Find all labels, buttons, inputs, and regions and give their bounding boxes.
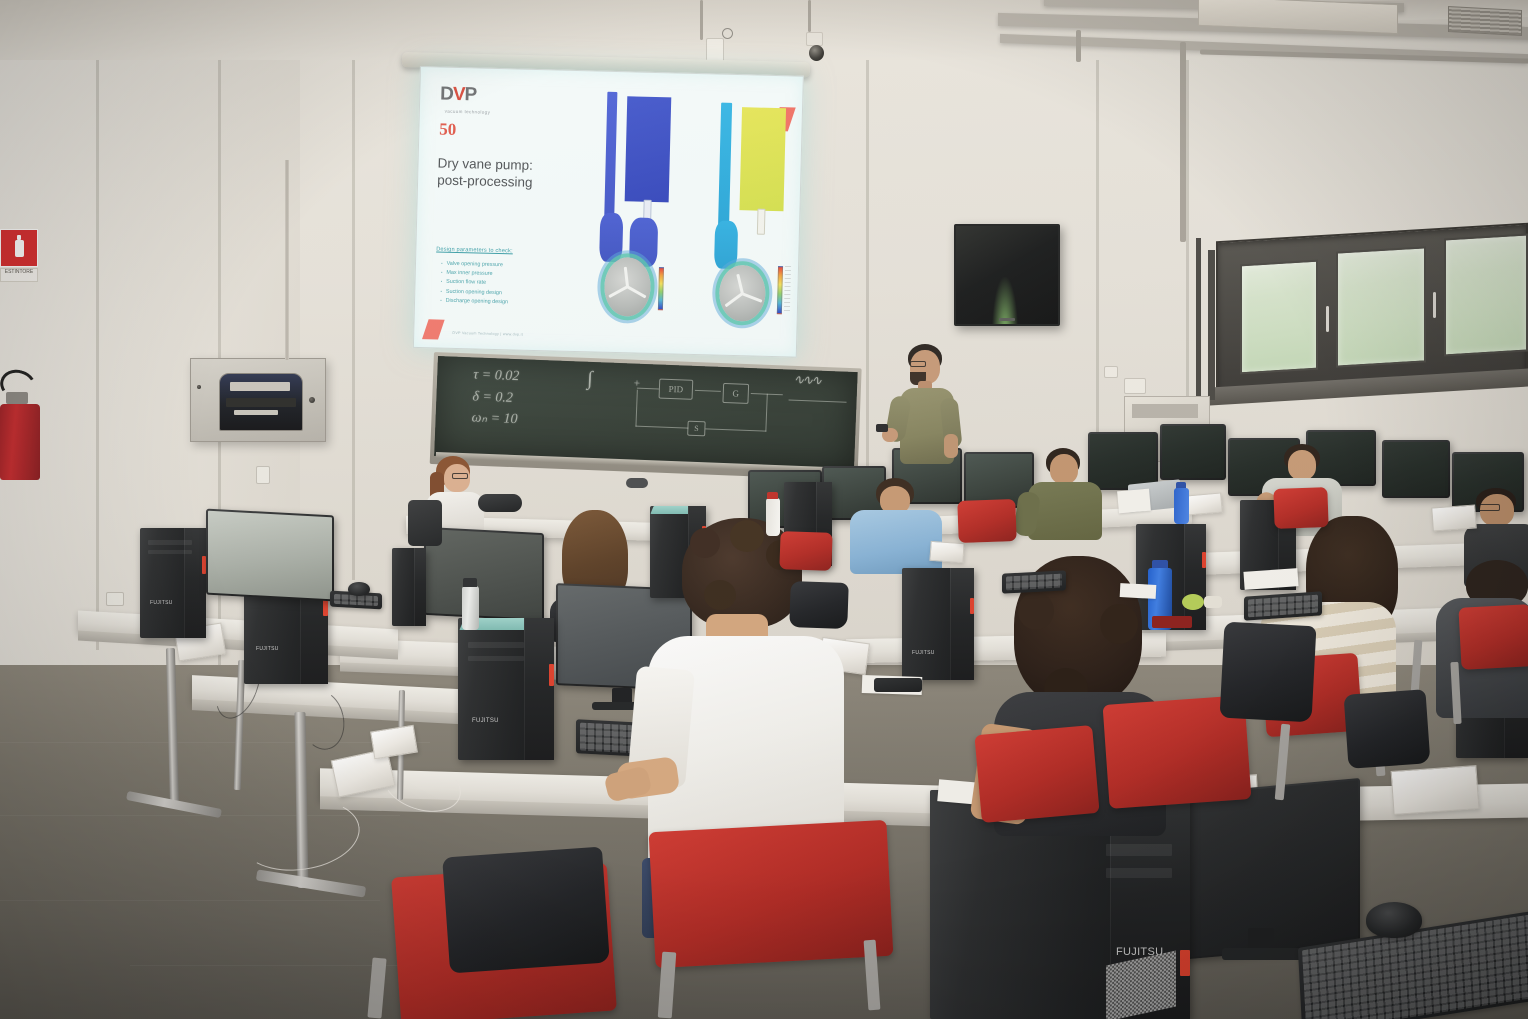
slide-title-line2: post-processing xyxy=(437,172,533,192)
ceiling-conduit xyxy=(1180,42,1186,242)
tower-drive-slot xyxy=(468,642,524,648)
monitor[interactable] xyxy=(1160,424,1226,480)
wall-seam xyxy=(352,20,355,580)
ceiling-conduit xyxy=(1076,30,1081,62)
monitor-screen xyxy=(426,529,542,619)
hair-curl xyxy=(1018,592,1054,630)
fire-extinguisher-sign xyxy=(0,229,38,267)
tower-drive-slot xyxy=(1106,868,1172,878)
security-camera xyxy=(809,45,824,61)
slide-bullet-list: Valve opening pressure Max inner pressur… xyxy=(440,259,509,307)
signal-arrow xyxy=(695,390,721,392)
tower-front-panel xyxy=(950,568,974,680)
slide-title: Dry vane pump: post-processing xyxy=(437,154,533,191)
feedback-path xyxy=(635,390,637,427)
wall-seam xyxy=(866,40,869,470)
tower-accent xyxy=(970,598,974,614)
paper-sheet xyxy=(1120,583,1157,599)
wall-hook-icon xyxy=(722,28,733,39)
wall-conduit xyxy=(285,160,289,360)
cfd-figure-inlet xyxy=(598,91,718,318)
blackboard-note: ωₙ = 10 xyxy=(471,409,518,428)
desktop-speaker xyxy=(478,494,522,512)
window-pane[interactable] xyxy=(1444,234,1528,357)
rotor-vane xyxy=(608,286,628,299)
window-pane[interactable] xyxy=(1336,246,1426,367)
tower-accent xyxy=(549,664,554,686)
rotor-vane xyxy=(627,286,647,299)
pid-block: PID xyxy=(659,379,694,400)
cfd-pressure-field xyxy=(714,220,738,269)
monitor-screen xyxy=(208,511,332,599)
computer-tower[interactable]: FUJITSU xyxy=(902,568,974,680)
floor-tile-line xyxy=(0,742,430,743)
blackboard-note: τ = 0.02 xyxy=(473,367,520,385)
water-bottle[interactable] xyxy=(462,586,479,630)
computer-tower[interactable] xyxy=(392,548,426,626)
chair[interactable] xyxy=(408,500,442,546)
tower-drive-slot xyxy=(468,656,524,661)
tower-front-panel xyxy=(524,618,554,760)
cfd-pressure-field xyxy=(718,103,732,230)
cable-management-box xyxy=(1391,765,1480,815)
dvp-tagline: vacuum technology xyxy=(445,108,491,114)
cabinet-screw-icon xyxy=(197,385,201,389)
monitor[interactable] xyxy=(206,509,334,602)
water-bottle[interactable] xyxy=(766,498,780,536)
dvp-logo: DVP xyxy=(440,84,477,104)
monitor-screen xyxy=(1384,442,1448,496)
cfd-figure-discharge xyxy=(713,103,804,324)
wall-seam xyxy=(1096,30,1099,450)
cabinet-device xyxy=(234,410,278,415)
paper-sheet xyxy=(1243,568,1298,590)
wall-sensor xyxy=(706,38,724,62)
tower-drive-slot xyxy=(1106,844,1172,856)
monitor[interactable] xyxy=(1382,440,1450,498)
feedback-path xyxy=(635,426,688,429)
mouse[interactable] xyxy=(348,582,370,596)
chair[interactable] xyxy=(1458,604,1528,670)
head xyxy=(1288,450,1316,480)
cfd-pressure-field xyxy=(739,108,785,212)
chair[interactable] xyxy=(779,531,832,571)
glasses xyxy=(1478,504,1500,511)
anniversary-mark: 50 xyxy=(439,121,456,138)
computer-tower[interactable]: FUJITSU xyxy=(458,618,554,760)
cabinet-device xyxy=(226,398,296,407)
logo-p: P xyxy=(464,84,476,105)
rotor-vane xyxy=(736,274,743,294)
bottle-cap xyxy=(463,578,477,587)
ceiling-vent-grille xyxy=(1448,6,1522,36)
chair[interactable] xyxy=(1273,487,1328,529)
hair-curl xyxy=(1100,604,1138,644)
apple xyxy=(1182,594,1204,610)
keyboard[interactable] xyxy=(1002,570,1066,593)
integral-symbol: ∫ xyxy=(587,368,593,391)
backpack xyxy=(789,581,849,629)
wall-outlet[interactable] xyxy=(256,466,270,484)
monitor-brand-badge xyxy=(999,318,1015,321)
glasses xyxy=(452,473,468,479)
person-student-olive-back xyxy=(1022,448,1122,538)
bottle-cap xyxy=(767,492,778,499)
cfd-colorbar xyxy=(777,266,783,314)
mouse[interactable] xyxy=(1366,902,1422,938)
slide-content: DVP vacuum technology 50 Dry vane pump: … xyxy=(414,67,803,357)
cable-management-box xyxy=(1185,492,1223,515)
smartphone[interactable] xyxy=(874,678,922,692)
tower-brand-logo: FUJITSU xyxy=(912,650,935,656)
wall-outlet[interactable] xyxy=(106,592,124,606)
wall-device xyxy=(1104,366,1118,378)
plant-block: G xyxy=(722,383,749,404)
cabinet-drawer xyxy=(1132,404,1198,418)
cfd-colorbar-ticks xyxy=(784,266,791,314)
hair-curl xyxy=(730,520,764,552)
security-camera-mount xyxy=(806,32,823,46)
keyboard-keys xyxy=(1248,595,1318,618)
window-handle[interactable] xyxy=(1433,292,1436,318)
tower-front-panel xyxy=(414,548,426,626)
tower-accent xyxy=(1202,552,1206,568)
slide-accent-shape xyxy=(422,319,445,339)
cfd-rotor-diagram xyxy=(718,264,765,322)
window-pane[interactable] xyxy=(1240,260,1318,375)
fire-extinguisher-sign-label: ESTINTORE xyxy=(0,268,38,282)
blackboard-note: δ = 0.2 xyxy=(472,389,513,407)
head xyxy=(1050,454,1078,484)
slide-bullets-heading: Design parameters to check: xyxy=(436,247,513,255)
tower-brand-logo: FUJITSU xyxy=(472,718,499,724)
tower-front-panel xyxy=(1184,524,1206,630)
hair-curl xyxy=(704,580,736,610)
rotor-vane xyxy=(741,292,762,302)
chair[interactable] xyxy=(649,820,894,968)
cfd-rotor-diagram xyxy=(604,257,651,316)
rotor-vane xyxy=(624,267,629,287)
tower-drive-slot xyxy=(148,540,192,545)
tower-drive-slot xyxy=(148,550,192,554)
webcam xyxy=(626,478,648,488)
feedback-path xyxy=(705,428,766,431)
logo-d: D xyxy=(440,83,453,104)
extinguisher-icon xyxy=(15,240,24,257)
rotor-vane xyxy=(724,292,743,307)
backpack xyxy=(442,847,610,974)
step-response-sketch: ∿∿∿ xyxy=(793,372,820,389)
cabinet-lock-icon[interactable] xyxy=(309,397,315,403)
backpack xyxy=(1220,622,1317,723)
tower-brand-logo: FUJITSU xyxy=(150,600,173,606)
feedback-path xyxy=(765,394,767,432)
keyboard-keys xyxy=(1006,574,1062,591)
cabinet-device xyxy=(230,382,290,391)
hair-curl xyxy=(690,528,720,558)
wall-pipe xyxy=(1208,250,1215,400)
tower-accent xyxy=(1180,950,1190,976)
monitor-base xyxy=(1222,948,1306,960)
floor-tile-line xyxy=(0,900,380,901)
chair[interactable] xyxy=(974,725,1099,823)
tower-brand-logo: FUJITSU xyxy=(256,646,279,652)
wall-device xyxy=(1124,378,1146,394)
monitor[interactable] xyxy=(424,527,544,621)
feedback-block: S xyxy=(687,421,706,437)
chair[interactable] xyxy=(957,499,1016,543)
cfd-colorbar xyxy=(658,267,664,310)
ceiling-conduit xyxy=(808,0,811,32)
fire-extinguisher xyxy=(0,404,40,480)
window-handle[interactable] xyxy=(1326,306,1329,332)
list-item: Discharge opening design xyxy=(440,297,508,308)
cfd-pressure-field xyxy=(625,96,671,202)
cabinet-window xyxy=(219,373,303,431)
logo-v: V xyxy=(453,84,465,105)
wall-seam xyxy=(96,30,99,650)
classroom-photo: ESTINTORE DVP vacuum technology 50 Dry v… xyxy=(0,0,1528,1019)
backpack xyxy=(1344,689,1431,769)
glasses xyxy=(910,361,926,367)
snack-wrapper xyxy=(1204,596,1222,608)
water-bottle[interactable] xyxy=(1174,488,1189,524)
response-axis xyxy=(789,399,847,402)
cfd-pressure-field xyxy=(604,91,618,221)
wall-pipe xyxy=(1196,238,1201,408)
cable-management-box xyxy=(1431,504,1477,531)
monitor-screen xyxy=(1162,426,1224,478)
torso xyxy=(1028,482,1102,540)
cable-management-box xyxy=(929,541,964,563)
paper-sheet xyxy=(1117,489,1151,514)
computer-tower[interactable]: FUJITSU xyxy=(140,528,206,638)
ceiling-conduit xyxy=(700,0,703,40)
extinguisher-valve xyxy=(6,392,28,404)
av-equipment-cabinet[interactable] xyxy=(190,358,326,442)
forearm xyxy=(944,434,958,458)
presenter-remote[interactable] xyxy=(876,424,888,432)
notebook xyxy=(1152,616,1192,628)
wall-monitor[interactable] xyxy=(954,224,1060,326)
person-instructor xyxy=(884,344,964,474)
slide-footer: DVP Vacuum Technology | www.dvp.it xyxy=(452,331,523,337)
projection-screen: DVP vacuum technology 50 Dry vane pump: … xyxy=(413,66,804,358)
cfd-pressure-field xyxy=(599,212,623,262)
